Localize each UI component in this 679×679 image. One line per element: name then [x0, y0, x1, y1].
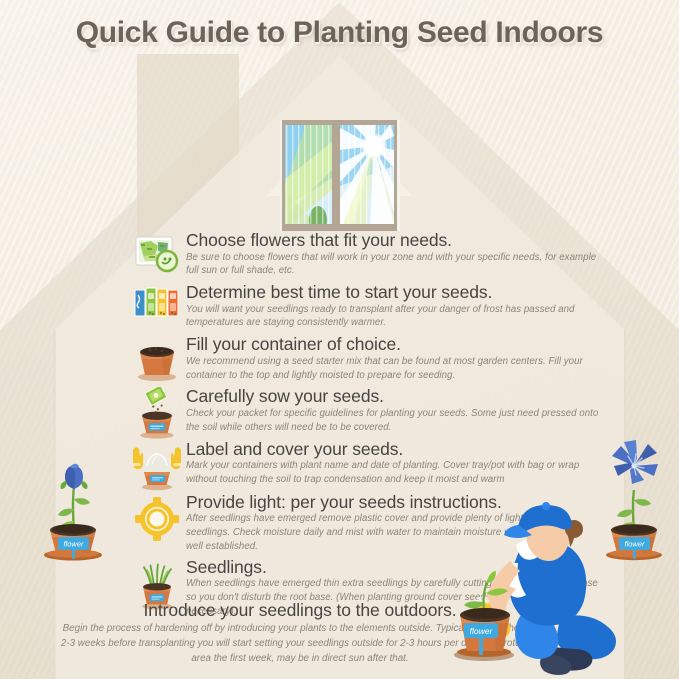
- step-item: Fill your container of choice. We recomm…: [131, 335, 601, 384]
- kneeling-gardener-icon: flower: [448, 497, 638, 679]
- step-heading: Carefully sow your seeds.: [186, 387, 601, 407]
- pot-tag-label: flower: [63, 540, 84, 549]
- zone-map-magnifier-icon: [131, 231, 183, 283]
- pot-tag-label: flower: [470, 626, 494, 636]
- step-item: Carefully sow your seeds. Check your pac…: [131, 387, 601, 436]
- step-item: Label and cover your seeds. Mark your co…: [131, 440, 601, 489]
- potted-blue-flower-icon: flower: [34, 437, 112, 562]
- step-body: Check your packet for specific guideline…: [186, 407, 601, 437]
- step-item: Determine best time to start your seeds.…: [131, 283, 601, 332]
- step-heading: Fill your container of choice.: [186, 335, 601, 355]
- light-sun-ring-icon: [131, 493, 183, 545]
- filled-pot-icon: [131, 335, 183, 387]
- step-item: Choose flowers that fit your needs. Be s…: [131, 231, 601, 280]
- page-title: Quick Guide to Planting Seed Indoors: [0, 16, 679, 50]
- infographic-poster: Quick Guide to Planting Seed Indoors: [0, 0, 679, 679]
- step-body: We recommend using a seed starter mix th…: [186, 355, 601, 385]
- step-body: You will want your seedlings ready to tr…: [186, 303, 601, 333]
- seed-packets-icon: [131, 283, 183, 335]
- step-heading: Choose flowers that fit your needs.: [186, 231, 601, 251]
- step-heading: Determine best time to start your seeds.: [186, 283, 601, 303]
- cover-pot-gloves-icon: [131, 440, 183, 492]
- step-body: Be sure to choose flowers that will work…: [186, 251, 601, 281]
- step-body: Mark your containers with plant name and…: [186, 459, 601, 489]
- step-heading: Label and cover your seeds.: [186, 440, 601, 460]
- sowing-seeds-packet-icon: [131, 387, 183, 439]
- window-with-sun-icon: [278, 120, 402, 231]
